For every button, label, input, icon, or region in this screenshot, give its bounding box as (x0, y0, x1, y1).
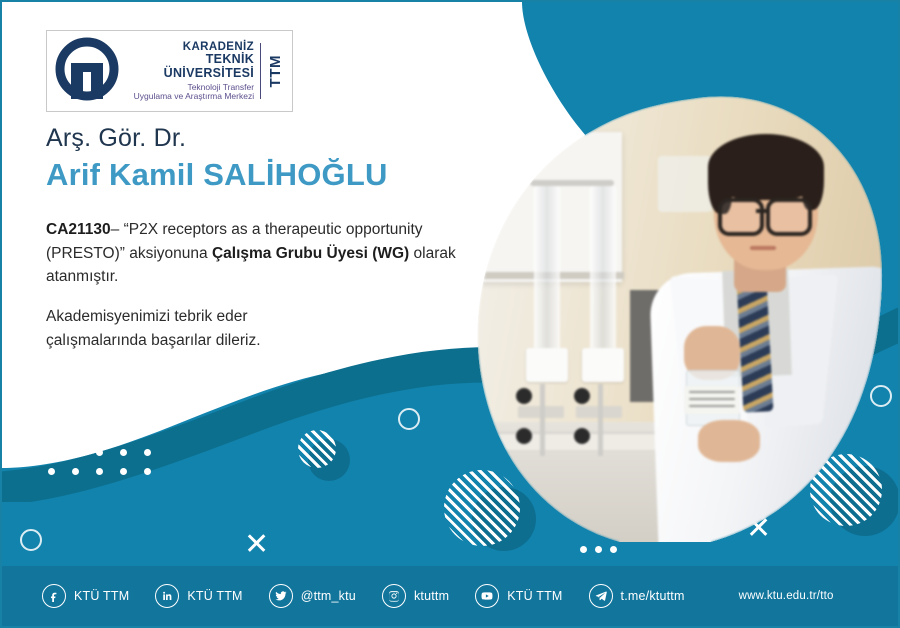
ktu-ttm-logo: KARADENİZ TEKNİK ÜNİVERSİTESİ Teknoloji … (46, 30, 293, 112)
person-title: Arş. Gör. Dr. (46, 124, 186, 153)
announcement-card: ✕ ✕ (0, 0, 900, 628)
social-twitter-label: @ttm_ktu (301, 589, 356, 603)
instagram-icon (382, 584, 406, 608)
congratulation-text: Akademisyenimizi tebrik eder çalışmaları… (46, 305, 376, 352)
social-twitter[interactable]: @ttm_ktu (269, 584, 356, 608)
decor-circle-outline-2 (870, 385, 892, 407)
social-instagram[interactable]: ktuttm (382, 584, 449, 608)
decor-striped-circle-1 (298, 430, 336, 468)
linkedin-icon (155, 584, 179, 608)
social-linkedin[interactable]: KTÜ TTM (155, 584, 242, 608)
social-youtube-label: KTÜ TTM (507, 589, 562, 603)
facebook-icon (42, 584, 66, 608)
announcement-role: Çalışma Grubu Üyesi (WG) (212, 245, 409, 262)
decor-dot-trio (580, 546, 630, 556)
social-links-bar: KTÜ TTM KTÜ TTM @ttm_ktu ktuttm KTÜ TTM (2, 566, 900, 626)
person-name: Arif Kamil SALİHOĞLU (46, 157, 388, 193)
website-url[interactable]: www.ktu.edu.tr/tto (739, 590, 834, 602)
decor-circle-outline-3 (20, 529, 42, 551)
logo-divider (260, 43, 261, 99)
social-facebook-label: KTÜ TTM (74, 589, 129, 603)
announcement-body: CA21130– “P2X receptors as a therapeutic… (46, 218, 461, 289)
decor-dot-grid (48, 449, 168, 477)
logo-line-2: TEKNİK ÜNİVERSİTESİ (123, 53, 254, 80)
social-facebook[interactable]: KTÜ TTM (42, 584, 129, 608)
decor-x-mark-1: ✕ (244, 530, 269, 560)
congrats-line-1: Akademisyenimizi tebrik eder (46, 305, 376, 329)
action-code: CA21130 (46, 221, 111, 238)
decor-striped-circle-2 (444, 470, 520, 546)
telegram-icon (589, 584, 613, 608)
social-linkedin-label: KTÜ TTM (187, 589, 242, 603)
congrats-line-2: çalışmalarında başarılar dileriz. (46, 329, 376, 353)
logo-ttm-vertical: TTM (267, 55, 284, 87)
logo-line-4: Uygulama ve Araştırma Merkezi (123, 92, 254, 101)
social-telegram-label: t.me/ktuttm (621, 589, 685, 603)
youtube-icon (475, 584, 499, 608)
social-telegram[interactable]: t.me/ktuttm (589, 584, 685, 608)
social-youtube[interactable]: KTÜ TTM (475, 584, 562, 608)
twitter-icon (269, 584, 293, 608)
ktu-emblem-icon (51, 35, 123, 107)
decor-circle-outline-1 (398, 408, 420, 430)
social-instagram-label: ktuttm (414, 589, 449, 603)
